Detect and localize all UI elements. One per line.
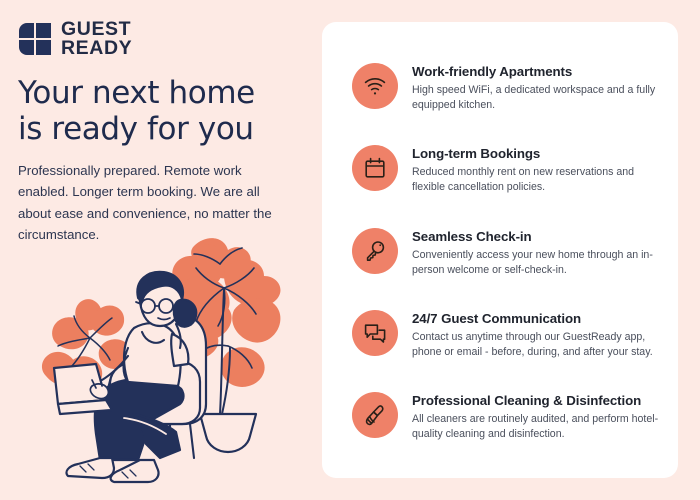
key-icon [352, 228, 398, 274]
hero-illustration [24, 228, 304, 490]
brand-wordmark: GUEST READY [61, 20, 132, 58]
feature-text: Long-term Bookings Reduced monthly rent … [412, 144, 664, 196]
feature-description: All cleaners are routinely audited, and … [412, 412, 664, 443]
feature-text: Seamless Check-in Conveniently access yo… [412, 227, 664, 279]
hero-column: GUEST READY Your next homeis ready for y… [0, 0, 310, 500]
feature-text: 24/7 Guest Communication Contact us anyt… [412, 309, 664, 361]
marketing-poster: GUEST READY Your next homeis ready for y… [0, 0, 700, 500]
chair-leg-right [190, 424, 194, 458]
guestready-quadrant-logo-icon [18, 22, 52, 56]
headline-line-2: is ready for you [18, 111, 254, 147]
page-title: Your next homeis ready for you [18, 76, 303, 147]
calendar-icon [352, 145, 398, 191]
wifi-icon [352, 63, 398, 109]
feature-description: Reduced monthly rent on new reservations… [412, 165, 664, 196]
feature-item-professional-cleaning[interactable]: Professional Cleaning & Disinfection All… [352, 391, 664, 443]
plant-pot [200, 414, 256, 452]
feature-title: Seamless Check-in [412, 229, 664, 245]
broom-icon [352, 392, 398, 438]
feature-item-seamless-check-in[interactable]: Seamless Check-in Conveniently access yo… [352, 227, 664, 279]
chat-bubbles-icon [352, 310, 398, 356]
feature-title: 24/7 Guest Communication [412, 311, 664, 327]
feature-description: High speed WiFi, a dedicated workspace a… [412, 83, 664, 114]
feature-description: Conveniently access your new home throug… [412, 248, 664, 279]
headline-line-1: Your next home [18, 75, 255, 111]
features-panel: Work-friendly Apartments High speed WiFi… [322, 22, 678, 478]
feature-item-guest-communication[interactable]: 24/7 Guest Communication Contact us anyt… [352, 309, 664, 361]
feature-description: Contact us anytime through our GuestRead… [412, 330, 664, 361]
brand-line-2: READY [61, 39, 132, 58]
feature-title: Work-friendly Apartments [412, 64, 664, 80]
feature-text: Work-friendly Apartments High speed WiFi… [412, 62, 664, 114]
feature-title: Long-term Bookings [412, 146, 664, 162]
person-shoes [66, 458, 158, 482]
feature-item-long-term-bookings[interactable]: Long-term Bookings Reduced monthly rent … [352, 144, 664, 196]
feature-title: Professional Cleaning & Disinfection [412, 393, 664, 409]
feature-text: Professional Cleaning & Disinfection All… [412, 391, 664, 443]
brand-logo[interactable]: GUEST READY [18, 20, 132, 58]
feature-item-work-friendly-apartments[interactable]: Work-friendly Apartments High speed WiFi… [352, 62, 664, 114]
